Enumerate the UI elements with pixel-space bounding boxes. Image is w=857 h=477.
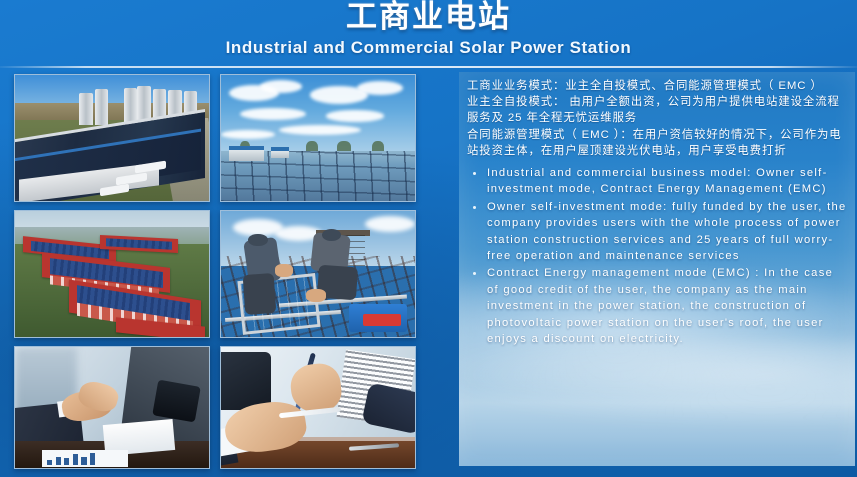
english-bullet-text: Contract Energy management mode (EMC) : … bbox=[487, 267, 833, 345]
description-panel-content: 工商业业务模式：业主全自投模式、合同能源管理模式（ EMC ） 业主全自投模式：… bbox=[467, 78, 847, 348]
english-bullet-text: Owner self-investment mode: fully funded… bbox=[487, 201, 847, 262]
page-title-chinese: 工商业电站 bbox=[0, 0, 857, 36]
list-item: Contract Energy management mode (EMC) : … bbox=[467, 265, 847, 347]
panel-cloud-haze-lower bbox=[459, 340, 855, 427]
chinese-line-2: 业主全自投模式： 由用户全额出资，公司为用户提供电站建设全流程服务及 25 年全… bbox=[467, 94, 847, 126]
page-title-english: Industrial and Commercial Solar Power St… bbox=[0, 37, 857, 59]
header-divider bbox=[0, 66, 857, 68]
gallery-image-workers-installing-panel[interactable] bbox=[220, 210, 416, 338]
gallery-image-aerial-factory-rooftop-solar[interactable] bbox=[14, 74, 210, 202]
slide-header: 工商业电站 Industrial and Commercial Solar Po… bbox=[0, 0, 857, 68]
chinese-line-3: 合同能源管理模式（ EMC ）：在用户资信较好的情况下，公司作为电站投资主体，在… bbox=[467, 127, 847, 159]
english-bullet-text: Industrial and commercial business model… bbox=[487, 167, 828, 195]
gallery-image-flat-roof-solar-array[interactable] bbox=[220, 74, 416, 202]
chinese-description-block: 工商业业务模式：业主全自投模式、合同能源管理模式（ EMC ） 业主全自投模式：… bbox=[467, 78, 847, 159]
description-panel: 工商业业务模式：业主全自投模式、合同能源管理模式（ EMC ） 业主全自投模式：… bbox=[459, 72, 855, 466]
bullet-dot-icon bbox=[473, 272, 476, 275]
bullet-dot-icon bbox=[473, 206, 476, 209]
gallery-image-business-handshake[interactable] bbox=[14, 346, 210, 469]
gallery-image-red-roof-industrial-park[interactable] bbox=[14, 210, 210, 338]
list-item: Industrial and commercial business model… bbox=[467, 165, 847, 198]
image-gallery bbox=[14, 74, 416, 469]
list-item: Owner self-investment mode: fully funded… bbox=[467, 199, 847, 265]
gallery-image-signing-contract[interactable] bbox=[220, 346, 416, 469]
bullet-dot-icon bbox=[473, 172, 476, 175]
slide-canvas: 工商业电站 Industrial and Commercial Solar Po… bbox=[0, 0, 857, 477]
chinese-line-1: 工商业业务模式：业主全自投模式、合同能源管理模式（ EMC ） bbox=[467, 78, 847, 94]
english-bullet-list: Industrial and commercial business model… bbox=[467, 165, 847, 347]
